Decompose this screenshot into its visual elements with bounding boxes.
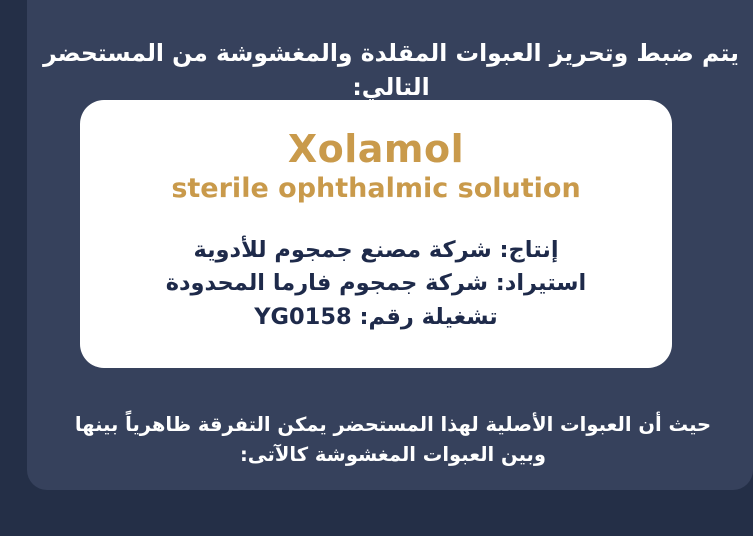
notice-panel: يتم ضبط وتحريز العبوات المقلدة والمغشوشة… (27, 0, 753, 490)
product-detail-batch: تشغيلة رقم: YG0158 (106, 301, 646, 335)
product-brand-name: Xolamol (288, 128, 464, 171)
product-detail-list: إنتاج: شركة مصنع جمجوم للأدوية استيراد: … (106, 234, 646, 335)
product-detail-manufacturer: إنتاج: شركة مصنع جمجوم للأدوية (106, 234, 646, 268)
product-card: Xolamol sterile ophthalmic solution إنتا… (80, 100, 672, 368)
closing-paragraph: حيث أن العبوات الأصلية لهذا المستحضر يمك… (53, 410, 733, 470)
intro-paragraph: يتم ضبط وتحريز العبوات المقلدة والمغشوشة… (43, 36, 739, 104)
screen-root: يتم ضبط وتحريز العبوات المقلدة والمغشوشة… (0, 0, 753, 536)
product-brand-subtitle: sterile ophthalmic solution (171, 173, 580, 204)
product-detail-importer: استيراد: شركة جمجوم فارما المحدودة (106, 267, 646, 301)
